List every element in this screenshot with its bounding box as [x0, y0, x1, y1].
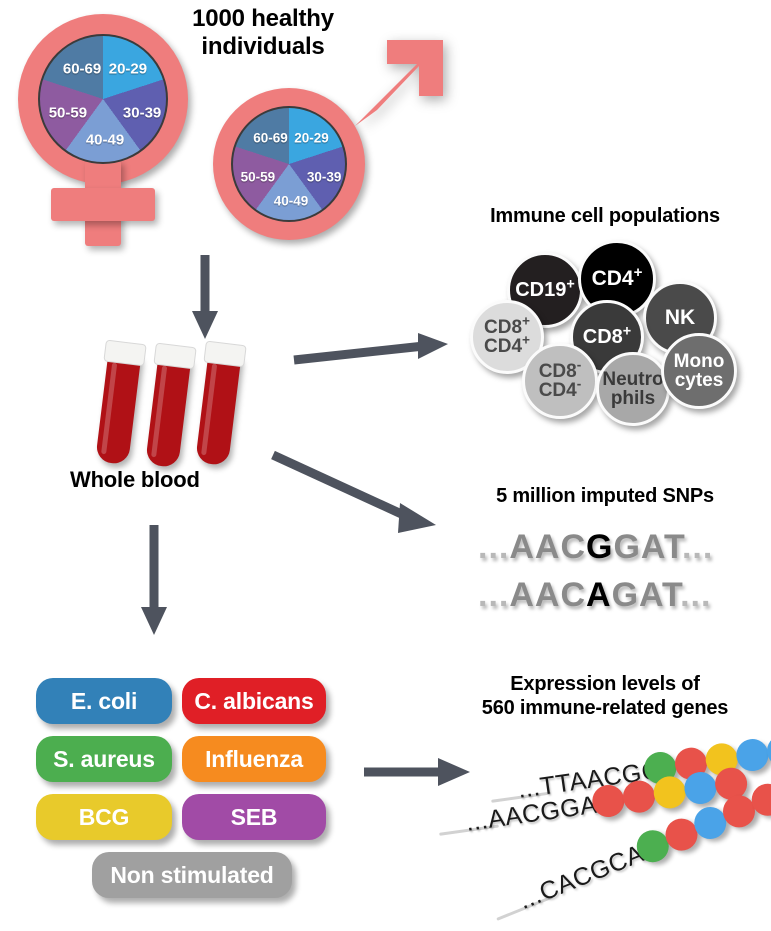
gene-strand: ...AACGGAT	[463, 761, 766, 842]
section-title-expression: Expression levels of 560 immune-related …	[440, 672, 770, 720]
snp-variant-base: A	[586, 576, 612, 614]
gene-expression-bead	[704, 741, 740, 777]
immune-cell-label: Neutrophils	[602, 370, 663, 409]
gene-expression-bead	[590, 783, 626, 819]
gene-expression-bead	[765, 733, 771, 769]
stimulation-button-label: C. albicans	[194, 688, 313, 715]
snp-prefix: ...	[478, 528, 509, 566]
gene-expression-bead	[734, 737, 770, 773]
snp-bases-after: GAT	[612, 576, 680, 614]
gene-expression-bead	[682, 770, 718, 806]
stimulation-button-label: E. coli	[71, 688, 137, 715]
immune-cell-mono-cytes: Monocytes	[661, 333, 737, 409]
gene-strand-rail	[496, 896, 553, 921]
snp-sequence-row: ...AACGGAT...	[478, 528, 713, 567]
stimulation-button-bcg[interactable]: BCG	[36, 794, 172, 840]
gene-expression-bead	[718, 791, 760, 833]
stimulation-button-influenza[interactable]: Influenza	[182, 736, 326, 782]
gene-expression-bead	[632, 825, 674, 867]
snp-suffix: ...	[680, 576, 711, 614]
gene-expression-bead	[661, 814, 703, 856]
gene-sequence-text: ...TTAACGG	[516, 756, 663, 805]
section-title-snps: 5 million imputed SNPs	[440, 485, 770, 509]
stimulation-button-e-coli[interactable]: E. coli	[36, 678, 172, 724]
expression-title-line-2: 560 immune-related genes	[440, 696, 770, 720]
snp-sequence-row: ...AACAGAT...	[478, 576, 711, 615]
immune-cell-label: NK	[665, 307, 695, 328]
gene-expression-bead	[713, 766, 749, 802]
snp-bases-before: AAC	[509, 576, 586, 614]
immune-cell-label: Monocytes	[674, 352, 725, 391]
gene-strand: ...CACGCAA	[513, 771, 771, 920]
immune-cell-cd8-cd4: CD8-CD4-	[522, 343, 598, 419]
gene-strand-rail	[439, 824, 499, 835]
immune-cell-cd8: CD8+	[570, 300, 644, 374]
immune-cell-cd19: CD19+	[507, 252, 583, 328]
gene-expression-bead	[673, 746, 709, 782]
gene-sequence-text: ...CACGCAA	[515, 833, 664, 916]
immune-cell-label: CD8+CD4+	[484, 318, 530, 357]
immune-cell-nk: NK	[643, 281, 717, 355]
gene-strand-rail	[491, 791, 551, 802]
snp-suffix: ...	[682, 528, 713, 566]
snp-bases-after: GAT	[613, 528, 681, 566]
stimulation-button-label: SEB	[231, 804, 278, 831]
stimulation-button-label: Influenza	[205, 746, 303, 773]
gene-expression-bead	[642, 750, 678, 786]
gene-expression-bead	[747, 779, 771, 821]
immune-cell-label: CD4+	[592, 268, 643, 289]
stimulation-button-seb[interactable]: SEB	[182, 794, 326, 840]
stimulation-button-label: S. aureus	[53, 746, 155, 773]
stimulation-button-s-aureus[interactable]: S. aureus	[36, 736, 172, 782]
snp-bases-before: AAC	[509, 528, 586, 566]
immune-cell-neutro-phils: Neutrophils	[596, 352, 670, 426]
stimulation-button-label: BCG	[79, 804, 130, 831]
snp-variant-base: G	[586, 528, 613, 566]
gene-expression-bead	[689, 802, 731, 844]
gene-sequence-text: ...AACGGAT	[464, 789, 613, 838]
stimulation-button-non-stimulated[interactable]: Non stimulated	[92, 852, 292, 898]
immune-cell-cd4: CD4+	[578, 240, 656, 318]
stimulation-button-label: Non stimulated	[110, 862, 273, 889]
snp-prefix: ...	[478, 576, 509, 614]
expression-title-line-1: Expression levels of	[440, 672, 770, 696]
arrow-stimulation-to-expression	[362, 752, 477, 792]
stimulation-condition-group: E. coliC. albicansS. aureusInfluenzaBCGS…	[0, 0, 360, 922]
stimulation-button-c-albicans[interactable]: C. albicans	[182, 678, 326, 724]
gene-expression-bead	[652, 774, 688, 810]
immune-cell-label: CD8+	[583, 327, 631, 347]
immune-cell-label: CD8-CD4-	[539, 362, 582, 401]
gene-strand: ...TTAACGG	[515, 728, 771, 809]
immune-cell-cd8-cd4: CD8+CD4+	[470, 300, 544, 374]
gene-expression-bead	[621, 779, 657, 815]
immune-cell-label: CD19+	[515, 280, 575, 300]
section-title-immune-cells: Immune cell populations	[440, 205, 770, 229]
